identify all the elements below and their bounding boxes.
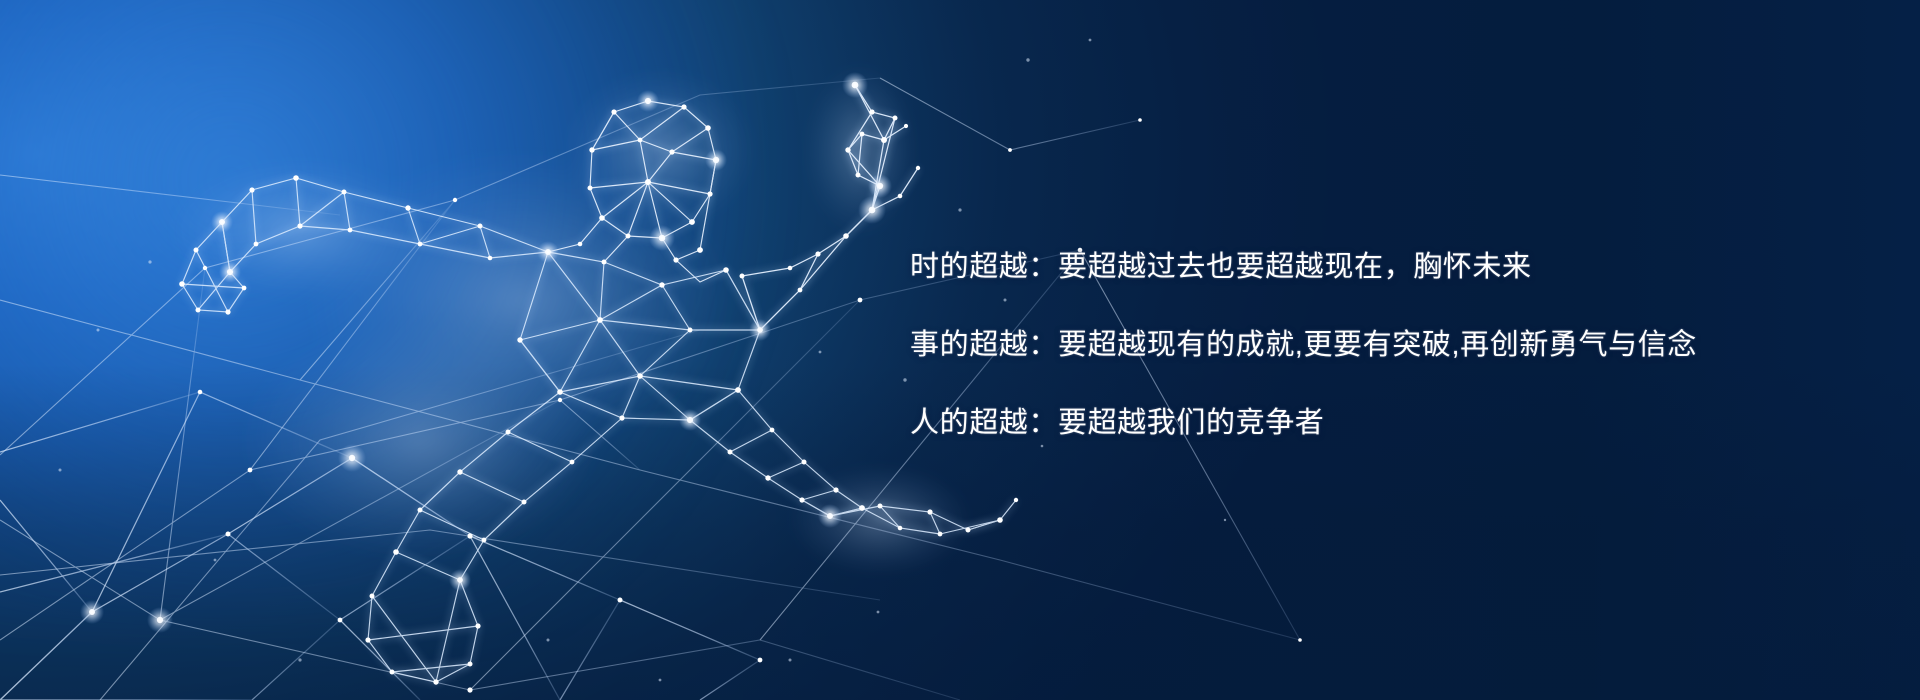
slogan-line-time: 时的超越：要超越过去也要超越现在，胸怀未来 [910,228,1810,306]
banner-root: 时的超越：要超越过去也要超越现在，胸怀未来 事的超越：要超越现有的成就,更要有突… [0,0,1920,700]
slogan-line-matter: 事的超越：要超越现有的成就,更要有突破,再创新勇气与信念 [910,306,1810,384]
slogan-text-block: 时的超越：要超越过去也要超越现在，胸怀未来 事的超越：要超越现有的成就,更要有突… [910,228,1810,462]
slogan-line-people: 人的超越：要超越我们的竞争者 [910,384,1810,462]
